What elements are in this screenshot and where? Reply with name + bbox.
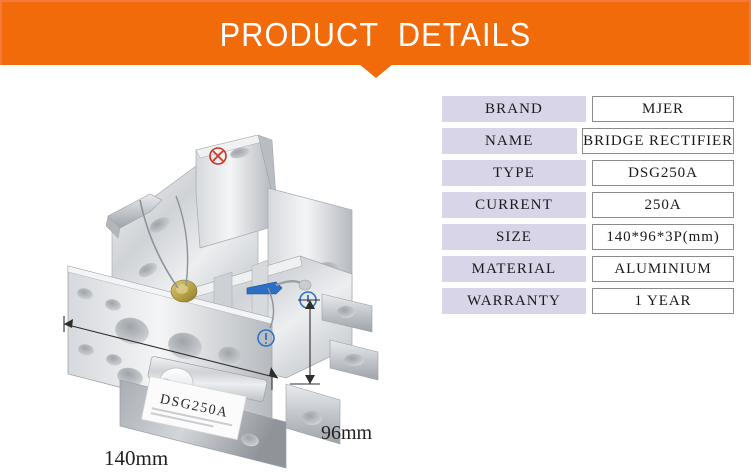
spec-value-current: 250A	[592, 192, 734, 218]
spec-label-warranty: WARRANTY	[442, 288, 586, 314]
spec-value-warranty: 1 YEAR	[592, 288, 734, 314]
spec-value-brand: MJER	[592, 96, 734, 122]
dimension-label-width: 140mm	[104, 446, 168, 471]
spec-label-size: SIZE	[442, 224, 586, 250]
table-row: CURRENT 250A	[442, 192, 734, 218]
spec-label-brand: BRAND	[442, 96, 586, 122]
spec-label-material: MATERIAL	[442, 256, 586, 282]
spec-label-current: CURRENT	[442, 192, 586, 218]
bridge-rectifier-illustration: DSG250A	[0, 88, 432, 475]
spec-label-name: NAME	[442, 128, 577, 154]
product-details-banner: PRODUCT DETAILS	[0, 0, 751, 65]
dimension-label-depth: 96mm	[321, 422, 372, 445]
spec-value-name: BRIDGE RECTIFIER	[582, 128, 734, 154]
spec-value-material: ALUMINIUM	[592, 256, 734, 282]
spec-value-type: DSG250A	[592, 160, 734, 186]
page-title: PRODUCT DETAILS	[28, 2, 723, 67]
spec-label-type: TYPE	[442, 160, 586, 186]
table-row: WARRANTY 1 YEAR	[442, 288, 734, 314]
table-row: BRAND MJER	[442, 96, 734, 122]
triangle-down-icon	[359, 64, 393, 78]
product-photo: DSG250A	[0, 88, 432, 475]
table-row: TYPE DSG250A	[442, 160, 734, 186]
spec-value-size: 140*96*3P(mm)	[592, 224, 734, 250]
table-row: SIZE 140*96*3P(mm)	[442, 224, 734, 250]
table-row: MATERIAL ALUMINIUM	[442, 256, 734, 282]
specification-table: BRAND MJER NAME BRIDGE RECTIFIER TYPE DS…	[442, 96, 734, 320]
table-row: NAME BRIDGE RECTIFIER	[442, 128, 734, 154]
